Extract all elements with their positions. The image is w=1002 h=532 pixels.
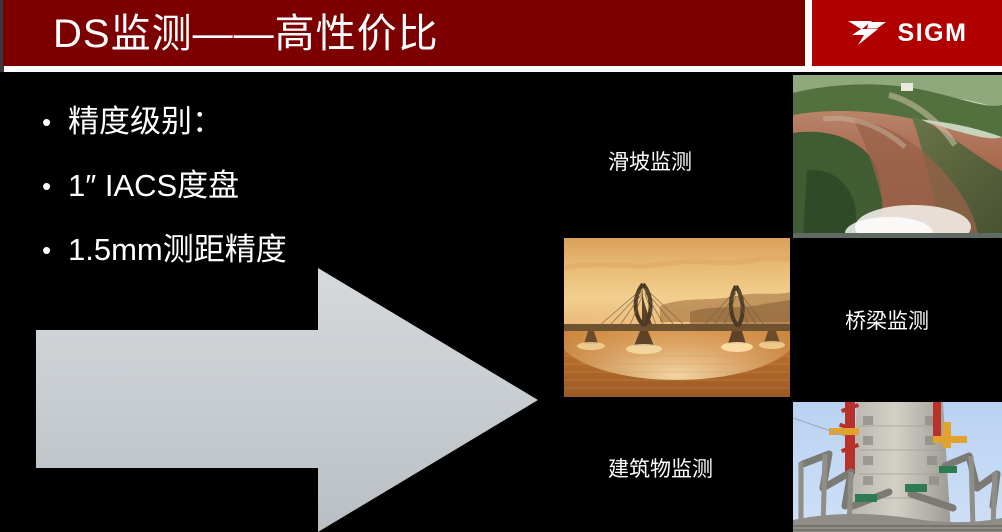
header-divider-cap	[0, 66, 4, 72]
bullet-text: 1.5mm测距精度	[68, 228, 287, 272]
building-photo	[793, 402, 1002, 532]
right-arrow-icon	[18, 268, 578, 532]
list-item: • 1.5mm测距精度	[42, 228, 512, 272]
bullet-dot-icon: •	[42, 228, 68, 272]
bullet-text: 1″ IACS度盘	[68, 164, 239, 208]
caption-landslide: 滑坡监测	[608, 148, 692, 178]
brand-logo: SIGM	[812, 0, 1002, 66]
header-divider	[0, 66, 1002, 72]
bridge-photo	[564, 238, 790, 397]
landslide-illustration	[793, 75, 1002, 238]
list-item: • 精度级别：	[42, 100, 512, 144]
slide-canvas: DS监测——高性价比 SIGM • 精度级别： • 1″ IACS度盘 • 1.	[0, 0, 1002, 532]
slide-header: DS监测——高性价比 SIGM	[0, 0, 1002, 72]
caption-bridge: 桥梁监测	[845, 307, 929, 337]
bullet-list: • 精度级别： • 1″ IACS度盘 • 1.5mm测距精度	[42, 100, 512, 292]
landslide-photo	[793, 75, 1002, 238]
list-item: • 1″ IACS度盘	[42, 164, 512, 208]
process-flow-diagram: 很多监测0.5″精度 冗余且价格过高 DS足够应对一般精 度要求监测项目	[18, 268, 578, 532]
page-title: DS监测——高性价比	[53, 3, 439, 65]
sigma-arrow-icon	[847, 20, 889, 46]
bullet-dot-icon: •	[42, 164, 68, 208]
bullet-text: 精度级别：	[68, 100, 223, 144]
logo-band: SIGM	[812, 0, 1002, 66]
bullet-dot-icon: •	[42, 100, 68, 144]
caption-building: 建筑物监测	[608, 455, 713, 485]
logo-wordmark: SIGM	[898, 20, 968, 46]
bridge-sunset-illustration	[564, 238, 790, 397]
building-construction-illustration	[793, 402, 1002, 532]
title-band: DS监测——高性价比	[3, 0, 805, 66]
